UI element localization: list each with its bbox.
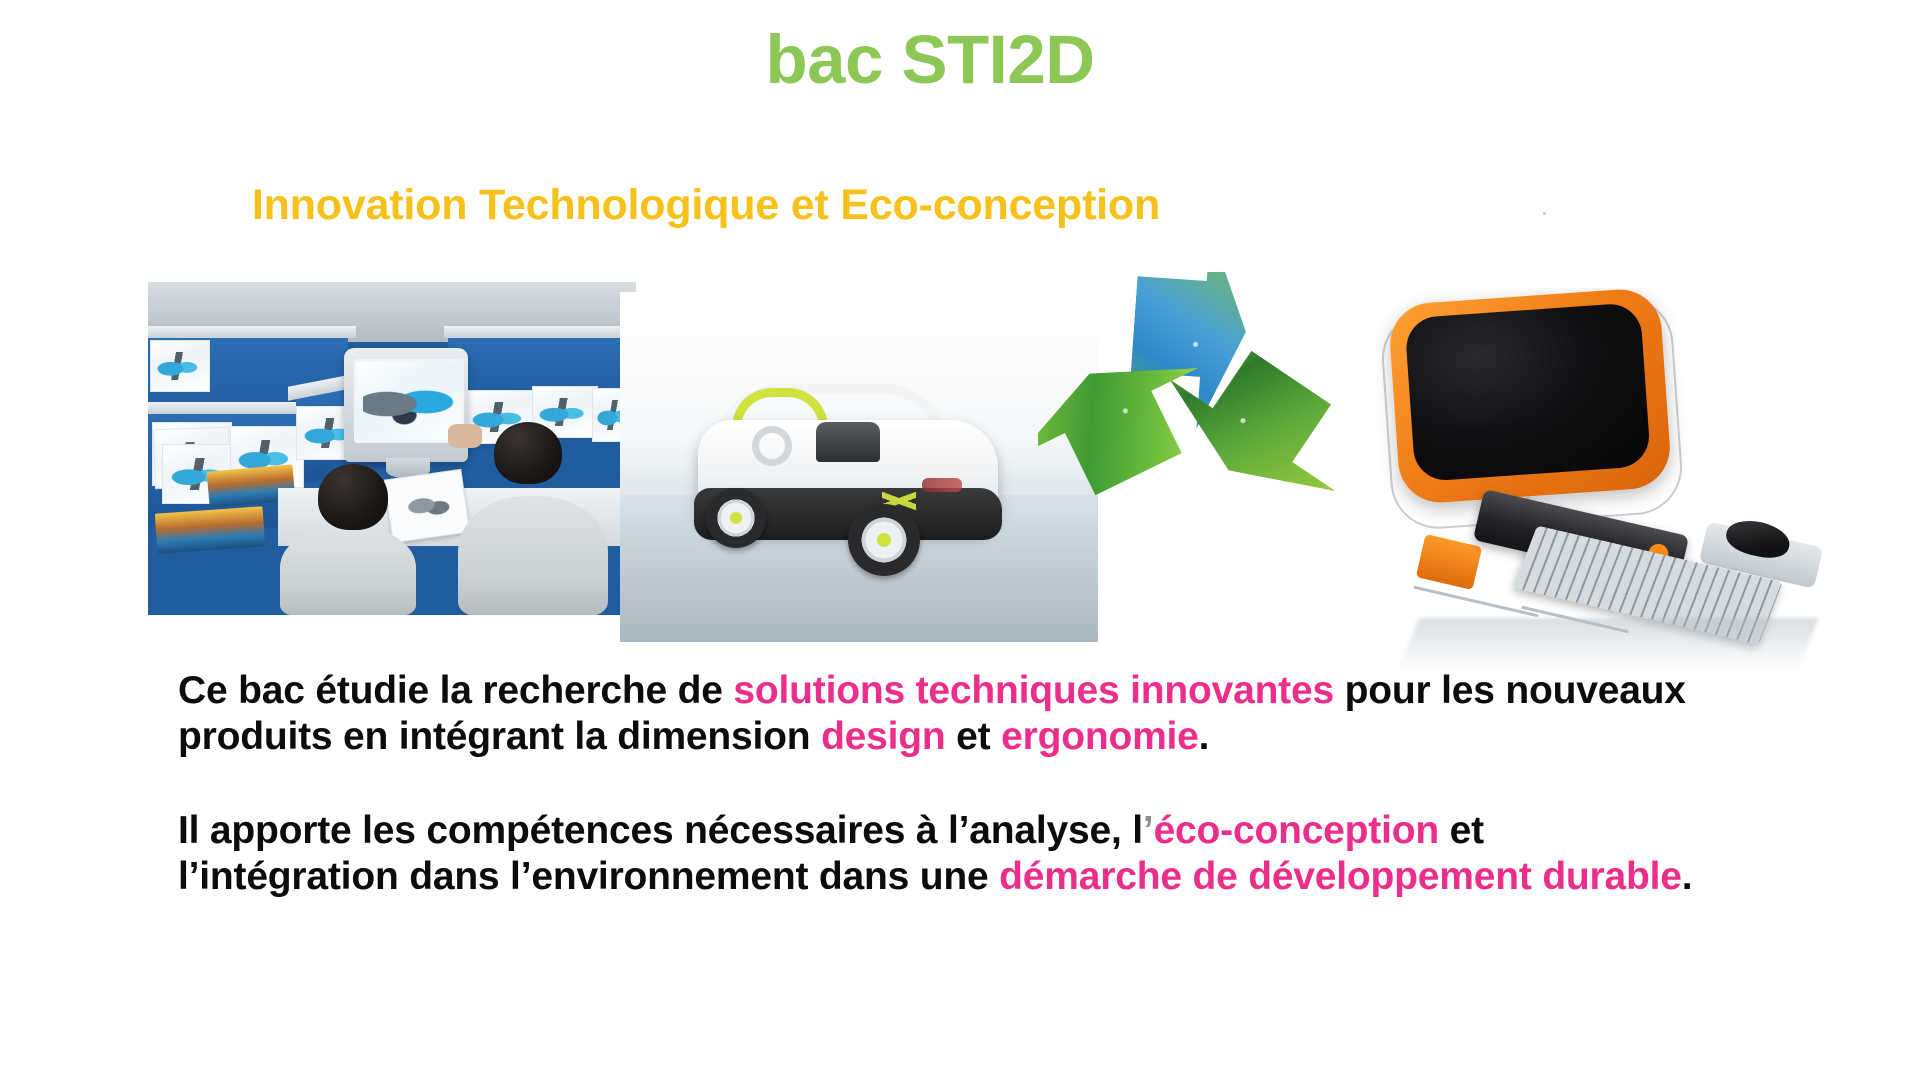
design-office-photo bbox=[148, 282, 636, 615]
car-wheel-front bbox=[706, 488, 766, 548]
p2-run-2: et bbox=[1439, 809, 1484, 852]
office-partition-right-cap bbox=[444, 326, 636, 338]
p2-run-1: Il apporte les compétences nécessaires à… bbox=[178, 809, 1143, 852]
designer-hand bbox=[448, 424, 482, 448]
paper-sketch-in-hand bbox=[384, 469, 470, 543]
p1-highlight-design: design bbox=[821, 715, 945, 758]
designer-head-front bbox=[318, 464, 388, 530]
p2-highlight-demarche: démarche de développement bbox=[999, 855, 1532, 898]
monitor-bezel bbox=[1387, 288, 1672, 505]
p1-highlight-ergonomie: ergonomie bbox=[1001, 715, 1199, 758]
car-wheel-rear bbox=[848, 504, 920, 576]
tower-orange-end bbox=[1416, 534, 1482, 590]
magazine-stack-left bbox=[155, 506, 266, 553]
car-steering-wheel bbox=[752, 426, 792, 466]
p1-run-2: pour les bbox=[1334, 669, 1495, 712]
p2-run-3: l’intégration dans l’environnement dans … bbox=[178, 855, 999, 898]
designer-computer-photo bbox=[1372, 288, 1860, 680]
designer-person-right bbox=[458, 496, 608, 615]
p1-run-4: et bbox=[946, 715, 1002, 758]
office-partition-left-cap bbox=[148, 326, 356, 338]
p2-run-4: . bbox=[1682, 855, 1693, 898]
paragraph-1: Ce bac étudie la recherche de solutions … bbox=[178, 668, 1698, 760]
scooter-poster-top-left bbox=[150, 340, 210, 392]
paragraph-2: Il apporte les compétences nécessaires à… bbox=[178, 808, 1698, 900]
p2-highlight-durable: durable bbox=[1542, 855, 1681, 898]
desk-reflection bbox=[1397, 618, 1819, 672]
paragraph-spacer bbox=[178, 760, 1698, 808]
car-seat bbox=[816, 422, 880, 462]
designer-person-front bbox=[280, 526, 416, 615]
p1-run-5: . bbox=[1199, 715, 1210, 758]
body-text-block: Ce bac étudie la recherche de solutions … bbox=[178, 668, 1698, 900]
stand-leg-left bbox=[1413, 586, 1538, 618]
image-strip bbox=[0, 0, 1920, 700]
concept-car-photo bbox=[620, 292, 1098, 642]
car-taillight bbox=[922, 478, 962, 492]
p1-run-1: Ce bac étudie la recherche de bbox=[178, 669, 733, 712]
slide-canvas: bac STI2D Innovation Technologique et Ec… bbox=[0, 0, 1920, 1080]
p2-highlight-ecoconception: éco-conception bbox=[1154, 809, 1439, 852]
monitor-screen bbox=[1404, 302, 1651, 482]
designer-head-right bbox=[494, 422, 562, 484]
recycling-symbol-image bbox=[1038, 272, 1338, 592]
p2-grey-apostrophe: ’ bbox=[1143, 809, 1154, 852]
p1-highlight-solutions: solutions techniques innovantes bbox=[733, 669, 1334, 712]
